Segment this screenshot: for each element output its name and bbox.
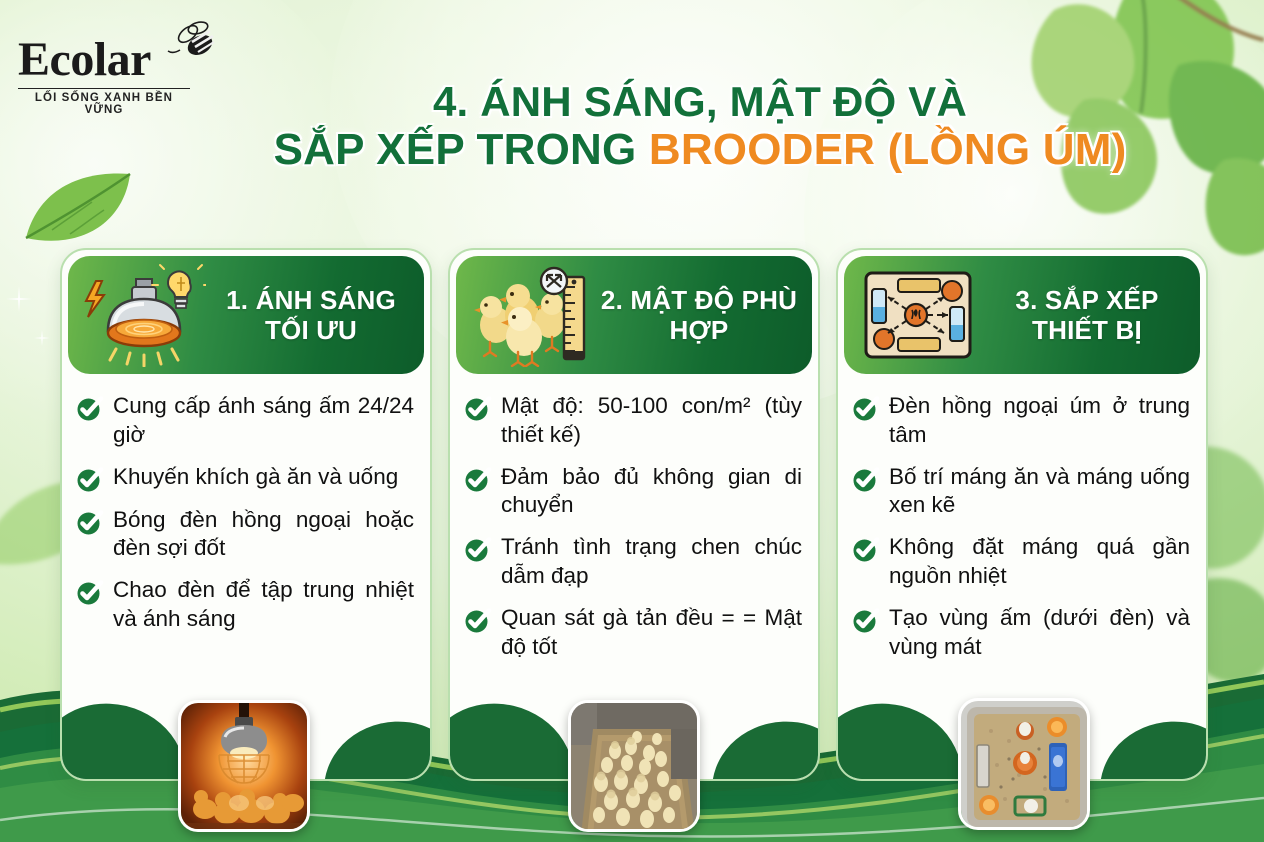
chicks-with-ruler-icon bbox=[466, 263, 594, 367]
title-line-2-prefix: SẮP XẾP TRONG bbox=[274, 125, 649, 174]
card-title: 3. SẮP XẾP THIẾT BỊ bbox=[988, 285, 1190, 345]
leaf-icon bbox=[18, 168, 138, 252]
heat-lamp-over-chicks-photo bbox=[178, 700, 310, 832]
card-header: 3. SẮP XẾP THIẾT BỊ bbox=[844, 256, 1200, 374]
sparkle-icon bbox=[6, 286, 32, 312]
list-item: Mật độ: 50-100 con/m² (tùy thiết kế) bbox=[464, 392, 802, 450]
list-item: Không đặt máng quá gần nguồn nhiệt bbox=[852, 533, 1190, 591]
card-title: 2. MẬT ĐỘ PHÙ HỢP bbox=[600, 285, 802, 345]
check-icon bbox=[464, 394, 492, 422]
brooder-box-topdown-photo bbox=[958, 698, 1090, 830]
check-icon bbox=[464, 535, 492, 563]
card-corner-accent bbox=[836, 694, 968, 782]
list-item-text: Cung cấp ánh sáng ấm 24/24 giờ bbox=[113, 392, 414, 450]
list-item-text: Chao đèn để tập trung nhiệt và ánh sáng bbox=[113, 576, 414, 634]
card-corner-accent bbox=[707, 712, 820, 781]
list-item-text: Quan sát gà tản đều = = Mật độ tốt bbox=[501, 604, 802, 662]
title-line-1: 4. ÁNH SÁNG, MẬT ĐỘ VÀ bbox=[250, 78, 1150, 125]
title-line-2-accent: BROODER (LỒNG ÚM) bbox=[649, 125, 1127, 174]
list-item: Quan sát gà tản đều = = Mật độ tốt bbox=[464, 604, 802, 662]
sparkle-icon bbox=[34, 330, 50, 346]
check-icon bbox=[76, 465, 104, 493]
brand-tagline: LỐI SỐNG XANH BỀN VỮNG bbox=[18, 88, 190, 116]
card-header: 1. ÁNH SÁNG TỐI ƯU bbox=[68, 256, 424, 374]
check-icon bbox=[76, 578, 104, 606]
chicks-in-brooder-pen-photo bbox=[568, 700, 700, 832]
list-item-text: Tạo vùng ấm (dưới đèn) và vùng mát bbox=[889, 604, 1190, 662]
bee-icon bbox=[166, 18, 220, 62]
card-title: 1. ÁNH SÁNG TỐI ƯU bbox=[212, 285, 414, 345]
card-bullet-list: Cung cấp ánh sáng ấm 24/24 giờ Khuyến kh… bbox=[62, 374, 430, 634]
page-title: 4. ÁNH SÁNG, MẬT ĐỘ VÀ SẮP XẾP TRONG BRO… bbox=[250, 78, 1150, 174]
check-icon bbox=[852, 394, 880, 422]
list-item-text: Bố trí máng ăn và máng uống xen kẽ bbox=[889, 463, 1190, 521]
list-item-text: Mật độ: 50-100 con/m² (tùy thiết kế) bbox=[501, 392, 802, 450]
list-item-text: Đèn hồng ngoại úm ở trung tâm bbox=[889, 392, 1190, 450]
list-item: Chao đèn để tập trung nhiệt và ánh sáng bbox=[76, 576, 414, 634]
card-bullet-list: Đèn hồng ngoại úm ở trung tâm Bố trí mán… bbox=[838, 374, 1206, 661]
list-item-text: Đảm bảo đủ không gian di chuyển bbox=[501, 463, 802, 521]
list-item: Tạo vùng ấm (dưới đèn) và vùng mát bbox=[852, 604, 1190, 662]
brooder-layout-diagram-icon bbox=[854, 263, 982, 367]
card-corner-accent bbox=[319, 712, 432, 781]
brand-logo: Ecolar LỐI SỐNG XANH BỀN VỮNG bbox=[18, 36, 238, 116]
card-corner-accent bbox=[1095, 712, 1208, 781]
list-item-text: Không đặt máng quá gần nguồn nhiệt bbox=[889, 533, 1190, 591]
check-icon bbox=[852, 606, 880, 634]
list-item: Bóng đèn hồng ngoại hoặc đèn sợi đốt bbox=[76, 506, 414, 564]
check-icon bbox=[852, 465, 880, 493]
card-corner-accent bbox=[448, 694, 580, 782]
list-item-text: Khuyến khích gà ăn và uống bbox=[113, 463, 398, 492]
list-item-text: Tránh tình trạng chen chúc dẫm đạp bbox=[501, 533, 802, 591]
list-item: Đảm bảo đủ không gian di chuyển bbox=[464, 463, 802, 521]
check-icon bbox=[852, 535, 880, 563]
list-item: Tránh tình trạng chen chúc dẫm đạp bbox=[464, 533, 802, 591]
title-line-2: SẮP XẾP TRONG BROODER (LỒNG ÚM) bbox=[250, 125, 1150, 174]
infographic-poster: Ecolar LỐI SỐNG XANH BỀN VỮNG 4. ÁNH SÁN… bbox=[0, 0, 1264, 842]
list-item: Đèn hồng ngoại úm ở trung tâm bbox=[852, 392, 1190, 450]
card-bullet-list: Mật độ: 50-100 con/m² (tùy thiết kế) Đảm… bbox=[450, 374, 818, 661]
check-icon bbox=[76, 508, 104, 536]
heat-lamp-icon bbox=[78, 263, 206, 367]
list-item: Khuyến khích gà ăn và uống bbox=[76, 463, 414, 493]
check-icon bbox=[464, 465, 492, 493]
check-icon bbox=[464, 606, 492, 634]
check-icon bbox=[76, 394, 104, 422]
card-header: 2. MẬT ĐỘ PHÙ HỢP bbox=[456, 256, 812, 374]
card-corner-accent bbox=[60, 694, 192, 782]
list-item: Cung cấp ánh sáng ấm 24/24 giờ bbox=[76, 392, 414, 450]
list-item: Bố trí máng ăn và máng uống xen kẽ bbox=[852, 463, 1190, 521]
list-item-text: Bóng đèn hồng ngoại hoặc đèn sợi đốt bbox=[113, 506, 414, 564]
